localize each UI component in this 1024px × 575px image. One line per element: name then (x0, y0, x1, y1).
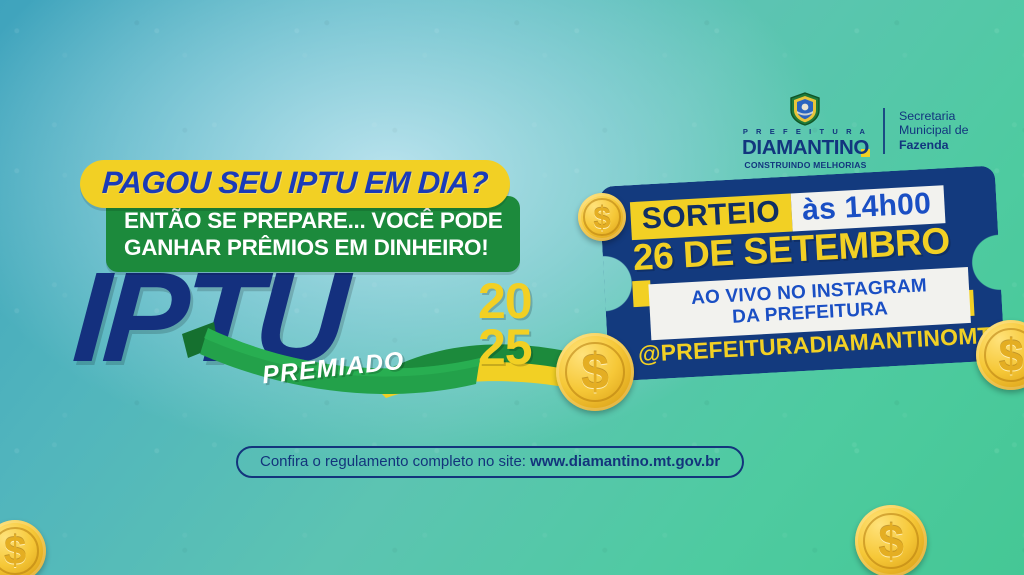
coat-of-arms-icon (789, 92, 821, 126)
secretaria-line-2: Municipal de (899, 123, 969, 138)
coin-icon: $ (578, 193, 626, 241)
year-badge: 20 25 (478, 278, 532, 370)
secretaria-line-1: Secretaria (899, 109, 969, 124)
year-top: 20 (478, 278, 532, 324)
coin-symbol: $ (581, 347, 609, 397)
coin-icon: $ (855, 505, 927, 575)
prefeitura-label: P R E F E I T U R A (743, 128, 868, 136)
brand-divider (883, 108, 885, 154)
subtitle-line-1: ENTÃO SE PREPARE... VOCÊ PODE (124, 208, 502, 235)
year-bottom: 25 (478, 324, 532, 370)
secretaria-line-3: Fazenda (899, 138, 969, 153)
coin-icon: $ (0, 520, 46, 575)
footer-text: Confira o regulamento completo no site: (260, 453, 530, 470)
regulation-footer: Confira o regulamento completo no site: … (236, 446, 744, 478)
coin-symbol: $ (593, 202, 610, 233)
brand-tagline: CONSTRUINDO MELHORIAS (744, 161, 866, 170)
city-name-text: DIAMANTINO (742, 136, 869, 159)
secretaria-block: Secretaria Municipal de Fazenda (899, 109, 969, 153)
promo-poster: P R E F E I T U R A DIAMANTINO CONSTRUIN… (0, 0, 1024, 575)
headline-question-banner: PAGOU SEU IPTU EM DIA? (80, 160, 510, 208)
subtitle-line-2: GANHAR PRÊMIOS EM DINHEIRO! (124, 235, 502, 262)
brand-lockup: P R E F E I T U R A DIAMANTINO CONSTRUIN… (742, 92, 969, 170)
coin-icon: $ (556, 333, 634, 411)
coin-symbol: $ (4, 531, 26, 571)
footer-site-url: www.diamantino.mt.gov.br (530, 453, 720, 470)
city-name: DIAMANTINO (742, 138, 869, 159)
prefeitura-logo: P R E F E I T U R A DIAMANTINO CONSTRUIN… (742, 92, 869, 170)
headline-question: PAGOU SEU IPTU EM DIA? (101, 165, 489, 201)
coin-symbol: $ (998, 333, 1023, 378)
draw-ticket: SORTEIO às 14h00 26 DE SETEMBRO AO VIVO … (599, 165, 1005, 381)
coin-symbol: $ (878, 518, 904, 564)
